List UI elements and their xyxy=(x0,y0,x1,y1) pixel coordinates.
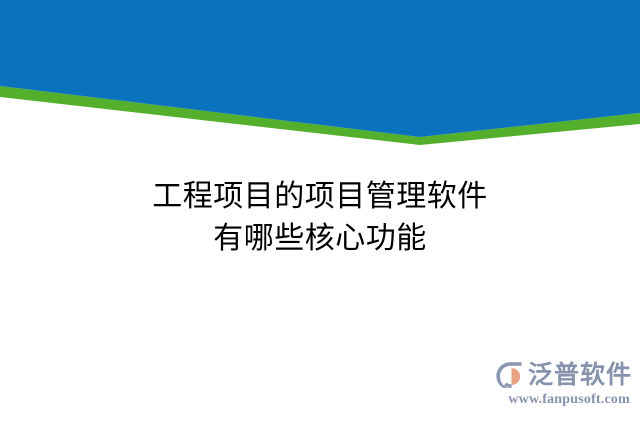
fanpu-c-arc-logo-icon xyxy=(494,360,526,390)
title-line-2: 有哪些核心功能 xyxy=(0,218,640,260)
logo-inner-arc-shape xyxy=(511,368,520,385)
banner-green-stripe xyxy=(0,86,640,145)
banner-blue-body xyxy=(0,0,640,137)
brand-url: www.fanpusoft.com xyxy=(484,392,632,408)
chevron-banner xyxy=(0,0,640,150)
title-line-1: 工程项目的项目管理软件 xyxy=(0,176,640,218)
slide-canvas: 工程项目的项目管理软件 有哪些核心功能 泛普软件 www.fanpusoft.c… xyxy=(0,0,640,427)
brand-logo-row: 泛普软件 xyxy=(484,359,632,391)
brand-logo: 泛普软件 www.fanpusoft.com xyxy=(484,359,632,415)
brand-name: 泛普软件 xyxy=(528,360,632,390)
page-title: 工程项目的项目管理软件 有哪些核心功能 xyxy=(0,176,640,260)
